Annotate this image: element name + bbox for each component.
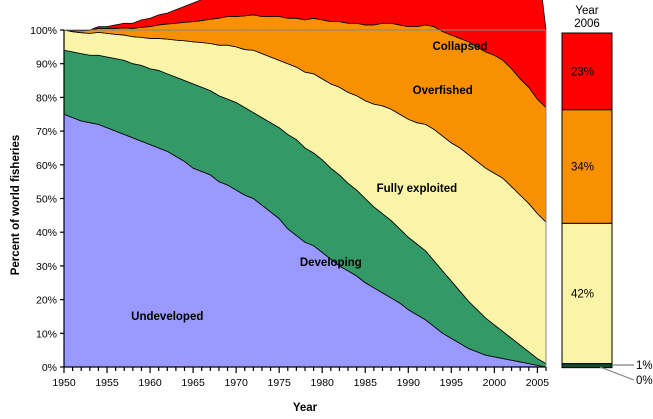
series-label-overfished: Overfished — [413, 85, 473, 97]
series-label-developing: Developing — [300, 257, 362, 269]
y-tick-label: 10% — [36, 328, 57, 340]
x-tick-label: 1970 — [224, 377, 248, 389]
series-label-collapsed: Collapsed — [432, 41, 487, 53]
legend-value-fully-exploited: 42% — [571, 289, 594, 301]
y-tick-label: 60% — [36, 160, 57, 172]
x-tick-label: 1980 — [311, 377, 335, 389]
x-tick-label: 1950 — [52, 377, 76, 389]
x-tick-label: 2000 — [483, 377, 507, 389]
x-axis-title: Year — [293, 402, 318, 414]
x-tick-label: 1985 — [354, 377, 378, 389]
y-tick-label: 0% — [42, 362, 57, 374]
series-label-fully-exploited: Fully exploited — [377, 183, 458, 195]
legend-bar-stack: 23%34%42% — [562, 33, 612, 368]
x-tick-label: 1990 — [397, 377, 421, 389]
x-tick-label: 1965 — [181, 377, 205, 389]
y-tick-label: 50% — [36, 194, 57, 206]
y-tick-label: 70% — [36, 126, 57, 138]
x-tick-label: 1995 — [440, 377, 464, 389]
x-tick-label: 1960 — [138, 377, 162, 389]
fisheries-stacked-area-chart: 0%10%20%30%40%50%60%70%80%90%100% 195019… — [0, 0, 653, 419]
legend-value-developing: 1% — [636, 360, 653, 372]
legend-segment-developing — [562, 364, 612, 368]
legend-value-collapsed: 23% — [571, 66, 594, 78]
legend-header-year: Year — [575, 5, 598, 17]
y-tick-label: 20% — [36, 295, 57, 307]
y-tick-label: 100% — [30, 25, 57, 37]
chart-page: 0%10%20%30%40%50%60%70%80%90%100% 195019… — [0, 0, 653, 419]
x-tick-label: 1975 — [267, 377, 291, 389]
x-tick-label: 2005 — [526, 377, 550, 389]
series-label-undeveloped: Undeveloped — [131, 311, 203, 323]
legend-value-overfished: 34% — [571, 162, 594, 174]
x-tick-label: 1955 — [95, 377, 119, 389]
y-tick-label: 30% — [36, 261, 57, 273]
y-tick-label: 90% — [36, 59, 57, 71]
y-tick-label: 80% — [36, 92, 57, 104]
legend-value-undeveloped: 0% — [636, 375, 653, 387]
y-tick-label: 40% — [36, 227, 57, 239]
y-axis-title: Percent of world fisheries — [10, 135, 22, 276]
legend-header-value: 2006 — [574, 18, 600, 30]
